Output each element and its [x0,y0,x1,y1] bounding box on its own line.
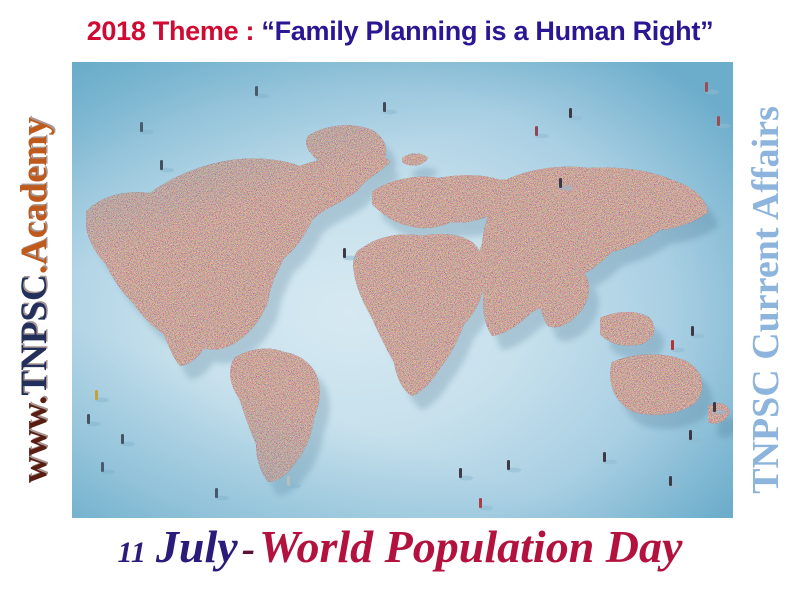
crowd-world-map-graphic [72,62,733,518]
poster-canvas: 2018 Theme : “Family Planning is a Human… [0,0,800,600]
theme-headline: 2018 Theme : “Family Planning is a Human… [0,18,800,45]
theme-quote-text: “Family Planning is a Human Right” [261,16,713,46]
brand-left-website: www.TNPSC.Academy [12,85,58,515]
brand-left-tnpsc-part: TNPSC [14,274,55,395]
theme-prefix-text: 2018 Theme : [87,16,262,46]
brand-right-current-affairs: TNPSC Current Affairs [742,85,790,515]
bottom-caption: 11July-World Population Day [0,524,800,570]
caption-title: World Population Day [259,521,682,572]
caption-month: July [146,521,238,572]
world-map-crowd-photo [72,62,733,518]
brand-left-www-part: www. [14,396,55,483]
brand-left-academy-part: .Academy [14,117,55,274]
caption-dash: - [238,526,259,571]
caption-day: 11 [118,536,146,569]
